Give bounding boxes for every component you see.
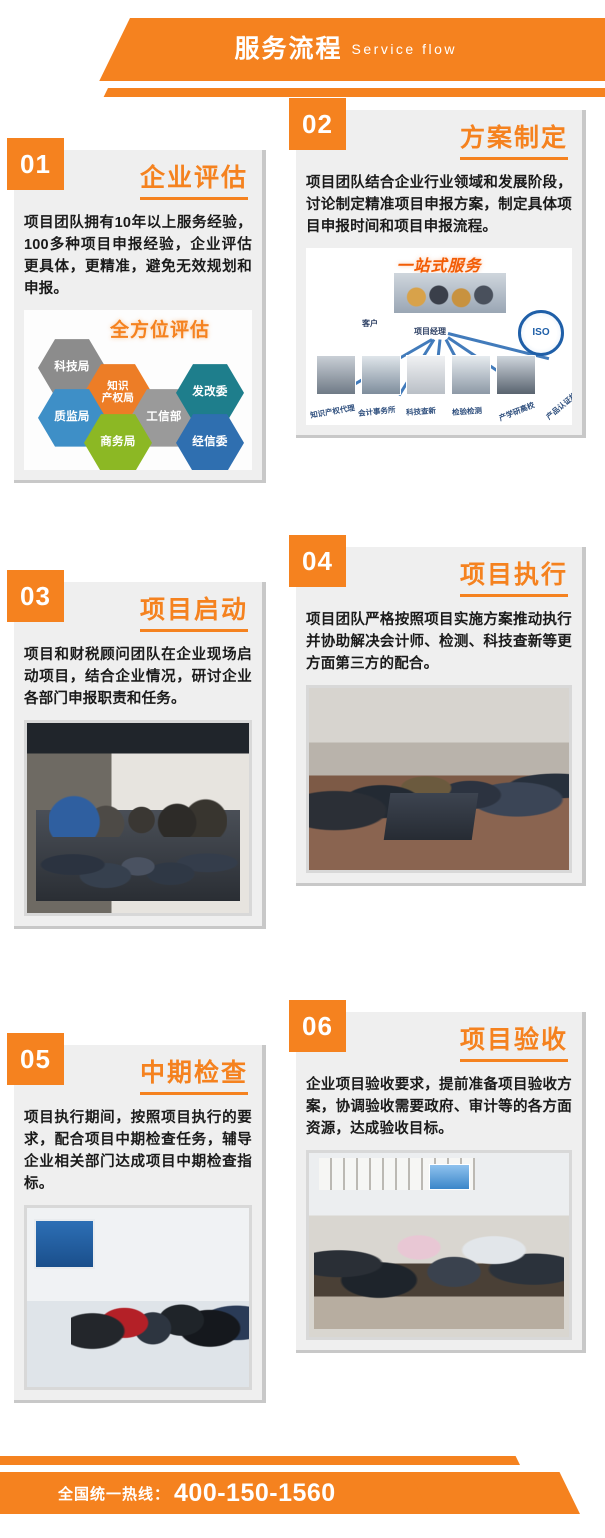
- node-label-project-manager: 项目经理: [414, 326, 446, 337]
- step-card-box: 02 方案制定 项目团队结合企业行业领域和发展阶段，讨论制定精准项目申报方案，制…: [296, 110, 586, 438]
- step-number-badge: 05: [7, 1033, 64, 1085]
- step-title: 方案制定: [460, 124, 568, 160]
- step-title: 项目启动: [140, 596, 248, 632]
- photo-content: [27, 1208, 249, 1387]
- step-description: 企业项目验收要求，提前准备项目验收方案，协调验收需要政府、审计等的各方面资源，达…: [306, 1074, 572, 1140]
- branch-label-tech-search: 科技查新: [406, 405, 437, 418]
- one-stop-service-diagram: 一站式服务 客户 项目经理 ISO 知识产权代理: [306, 248, 572, 425]
- node-label-customer: 客户: [362, 318, 378, 329]
- hotline-label: 全国统一热线：: [58, 1483, 170, 1504]
- header-stripe-fill: [152, 88, 605, 97]
- thumb-university: [496, 355, 536, 395]
- hexagon-assessment-chart: 全方位评估 科技局 知识产权局 质监局 工信部 商务局 发改委 经信委: [24, 310, 252, 470]
- photo-site-visit: [24, 1205, 252, 1390]
- footer-stripe: [0, 1456, 445, 1465]
- hexagon-chart-title: 全方位评估: [110, 315, 210, 342]
- step-number-badge: 02: [289, 98, 346, 150]
- photo-content: [309, 1153, 569, 1337]
- team-photo-thumbnail: [394, 273, 506, 313]
- step-title: 企业评估: [140, 164, 248, 200]
- step-title: 项目验收: [460, 1026, 568, 1062]
- step-description: 项目和财税顾问团队在企业现场启动项目，结合企业情况，研讨企业各部门申报职责和任务…: [24, 644, 252, 710]
- step-description: 项目团队拥有10年以上服务经验，100多种项目申报经验，企业评估更具体，更精准，…: [24, 212, 252, 300]
- hexagon-group: 全方位评估 科技局 知识产权局 质监局 工信部 商务局 发改委 经信委: [24, 310, 252, 470]
- step-number-badge: 03: [7, 570, 64, 622]
- thumb-ip-agency: [316, 355, 356, 395]
- step-description: 项目团队严格按照项目实施方案推动执行并协助解决会计师、检测、科技查新等更方面第三…: [306, 609, 572, 675]
- step-card-box: 05 中期检查 项目执行期间，按照项目执行的要求，配合项目中期检查任务，辅导企业…: [14, 1045, 266, 1403]
- hotline-group: 全国统一热线： 400-150-1560: [0, 1472, 540, 1514]
- photo-meeting-room: [24, 720, 252, 916]
- step-title: 中期检查: [140, 1059, 248, 1095]
- step-card-06: 06 项目验收 企业项目验收要求，提前准备项目验收方案，协调验收需要政府、审计等…: [296, 1012, 586, 1353]
- iso-certification-seal: ISO: [518, 310, 564, 356]
- step-card-03: 03 项目启动 项目和财税顾问团队在企业现场启动项目，结合企业情况，研讨企业各部…: [14, 582, 266, 929]
- step-card-box: 01 企业评估 项目团队拥有10年以上服务经验，100多种项目申报经验，企业评估…: [14, 150, 266, 483]
- step-card-05: 05 中期检查 项目执行期间，按照项目执行的要求，配合项目中期检查任务，辅导企业…: [14, 1045, 266, 1403]
- page-subtitle: Service flow: [352, 42, 457, 57]
- step-card-box: 06 项目验收 企业项目验收要求，提前准备项目验收方案，协调验收需要政府、审计等…: [296, 1012, 586, 1353]
- presentation-screen: [429, 1164, 471, 1190]
- one-stop-graphic: 一站式服务 客户 项目经理 ISO 知识产权代理: [306, 248, 572, 425]
- service-flow-infographic: 服务流程 Service flow 01 企业评估 项目团队拥有10年以上服务经…: [0, 0, 605, 1538]
- branch-label-ip-agency: 知识产权代理: [309, 402, 355, 421]
- branch-label-certification: 产品认证机构: [544, 385, 572, 422]
- photo-working-session: [306, 685, 572, 873]
- thumb-tech-search: [406, 355, 446, 395]
- photo-content: [27, 723, 249, 913]
- thumb-accounting: [361, 355, 401, 395]
- branch-label-inspection: 检验检测: [452, 405, 483, 418]
- step-card-box: 03 项目启动 项目和财税顾问团队在企业现场启动项目，结合企业情况，研讨企业各部…: [14, 582, 266, 929]
- header-title-group: 服务流程 Service flow: [0, 18, 605, 81]
- branch-label-accounting: 会计事务所: [358, 404, 396, 419]
- photo-content: [309, 688, 569, 870]
- page-footer: 全国统一热线： 400-150-1560: [0, 1416, 605, 1538]
- photo-conference-room: [306, 1150, 572, 1340]
- step-card-02: 02 方案制定 项目团队结合企业行业领域和发展阶段，讨论制定精准项目申报方案，制…: [296, 110, 586, 438]
- hotline-number[interactable]: 400-150-1560: [174, 1479, 336, 1508]
- step-description: 项目团队结合企业行业领域和发展阶段，讨论制定精准项目申报方案，制定具体项目申报时…: [306, 172, 572, 238]
- page-title: 服务流程: [235, 37, 343, 62]
- step-title: 项目执行: [460, 561, 568, 597]
- step-number-badge: 04: [289, 535, 346, 587]
- step-card-04: 04 项目执行 项目团队严格按照项目实施方案推动执行并协助解决会计师、检测、科技…: [296, 547, 586, 886]
- step-card-01: 01 企业评估 项目团队拥有10年以上服务经验，100多种项目申报经验，企业评估…: [14, 150, 266, 483]
- step-number-badge: 06: [289, 1000, 346, 1052]
- branch-label-university: 产学研高校: [497, 399, 536, 423]
- step-number-badge: 01: [7, 138, 64, 190]
- step-card-box: 04 项目执行 项目团队严格按照项目实施方案推动执行并协助解决会计师、检测、科技…: [296, 547, 586, 886]
- step-description: 项目执行期间，按照项目执行的要求，配合项目中期检查任务，辅导企业相关部门达成项目…: [24, 1107, 252, 1195]
- footer-stripe-skewed: [396, 1456, 520, 1465]
- thumb-inspection: [451, 355, 491, 395]
